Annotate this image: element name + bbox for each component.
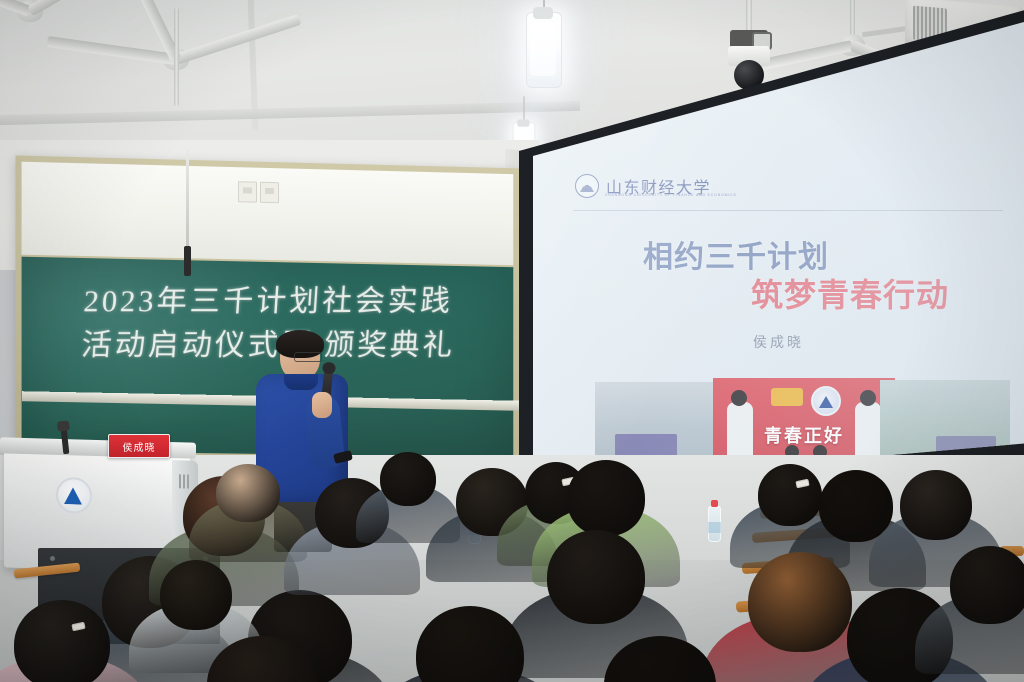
audience-member: [555, 636, 765, 682]
nameplate-text: 侯成晓: [123, 439, 156, 454]
audience-head: [160, 560, 232, 630]
ceiling-beam: [0, 101, 580, 125]
presenter-collar: [284, 374, 318, 390]
podium-university-emblem-icon: [56, 477, 92, 514]
podium-nameplate: 侯成晓: [108, 434, 170, 458]
ptz-dome-camera-icon: [726, 0, 772, 92]
banner-text: 青春正好: [713, 422, 895, 448]
banner-ribbon: [771, 388, 803, 406]
audience-member: [159, 636, 365, 682]
camera-mast: [746, 0, 752, 34]
audience-head: [416, 606, 524, 682]
lecture-hall-photo: 2023年三千计划社会实践 活动启动仪式暨 颁奖典礼 山东财经大学 SHANDO…: [0, 0, 1024, 682]
water-bottle: [708, 506, 721, 542]
lamp-body: [526, 12, 562, 88]
wall-socket: [260, 182, 279, 203]
presenter-glasses-icon: [294, 352, 322, 362]
panel-screw: [50, 556, 55, 561]
slide-presenter-name: 侯成晓: [533, 332, 1024, 352]
university-emblem-icon: [575, 174, 599, 198]
audience-head: [216, 464, 280, 522]
slide-divider: [573, 210, 1003, 211]
audience-head: [900, 470, 972, 540]
audience-head: [207, 636, 317, 682]
presenter-hand: [312, 392, 332, 418]
wall-socket: [238, 181, 257, 202]
university-logo: 山东财经大学 SHANDONG UNIVERSITY OF FINANCE AN…: [575, 174, 711, 198]
audience-member: [915, 546, 1024, 682]
blackboard-line-1: 2023年三千计划社会实践: [22, 276, 514, 321]
banner-emblem-icon: [811, 386, 841, 416]
audience-head: [604, 636, 716, 682]
audience-head: [567, 460, 645, 536]
whiteboard: [22, 162, 514, 265]
audience-member: [372, 606, 568, 682]
university-name-en: SHANDONG UNIVERSITY OF FINANCE AND ECONO…: [605, 193, 737, 197]
hanging-cable: [186, 150, 189, 260]
slide-title-line-2: 筑梦青春行动: [751, 270, 949, 316]
audience-head: [14, 600, 110, 682]
audience-head: [950, 546, 1024, 624]
pendant-light-icon: [526, 12, 562, 88]
fan-rod: [174, 46, 179, 106]
